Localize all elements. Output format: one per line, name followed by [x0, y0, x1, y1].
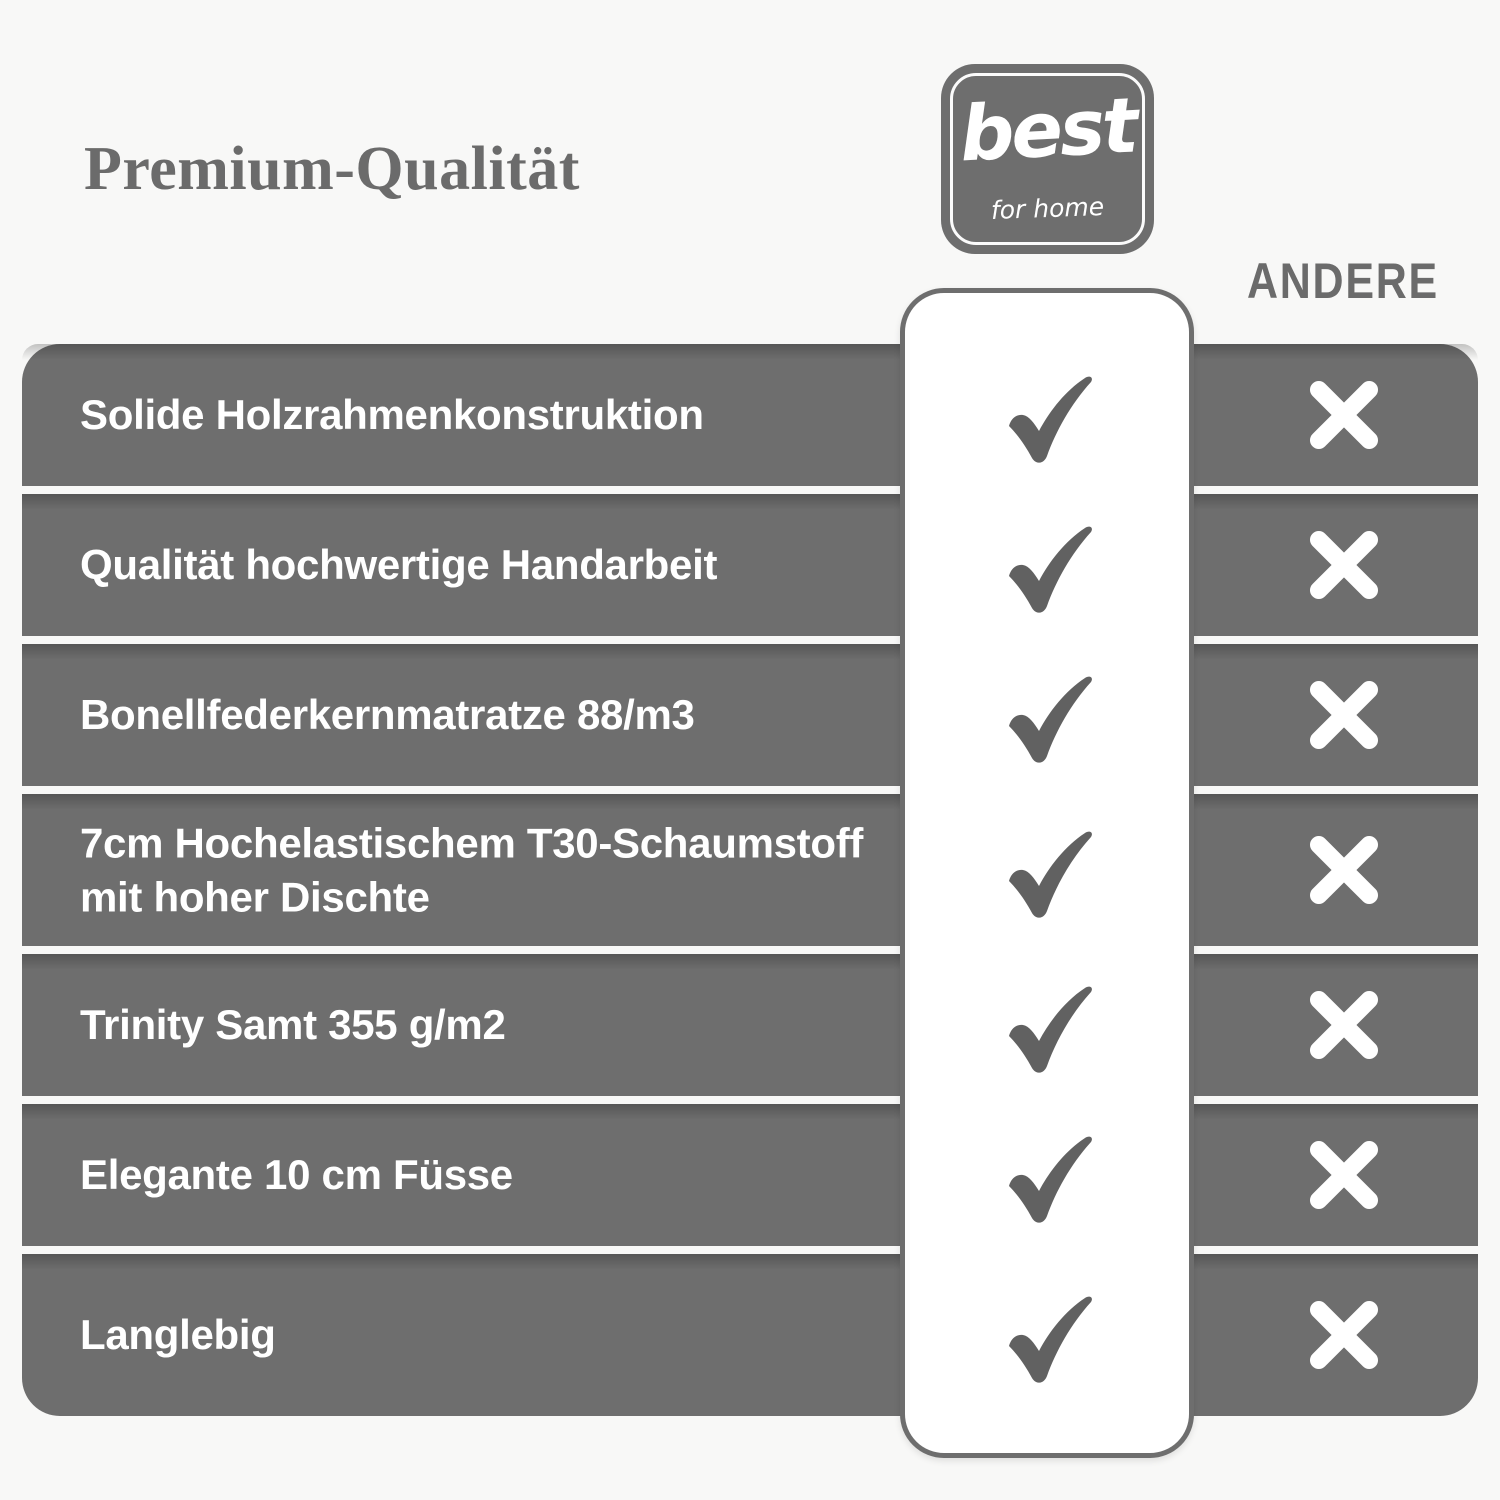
comparison-row: Solide Holzrahmenkonstruktion: [22, 344, 1478, 486]
cross-icon: [1302, 828, 1386, 912]
check-icon: [1001, 524, 1101, 616]
comparison-row-label: Qualität hochwertige Handarbeit: [80, 538, 880, 592]
comparison-row-label: Solide Holzrahmenkonstruktion: [80, 388, 880, 442]
cross-icon: [1302, 983, 1386, 1067]
comparison-row-label: 7cm Hochelastischem T30-Schaumstoff mit …: [80, 816, 880, 924]
check-icon: [1001, 829, 1101, 921]
comparison-row: Langlebig: [22, 1254, 1478, 1416]
check-icon: [1001, 1134, 1101, 1226]
comparison-rows: Solide HolzrahmenkonstruktionQualität ho…: [0, 0, 1500, 1500]
comparison-row: Elegante 10 cm Füsse: [22, 1104, 1478, 1246]
comparison-row: Bonellfederkernmatratze 88/m3: [22, 644, 1478, 786]
comparison-row-label: Langlebig: [80, 1308, 880, 1362]
comparison-row-label: Elegante 10 cm Füsse: [80, 1148, 880, 1202]
comparison-row-label: Trinity Samt 355 g/m2: [80, 998, 880, 1052]
comparison-row: Qualität hochwertige Handarbeit: [22, 494, 1478, 636]
comparison-row: 7cm Hochelastischem T30-Schaumstoff mit …: [22, 794, 1478, 946]
cross-icon: [1302, 673, 1386, 757]
cross-icon: [1302, 1133, 1386, 1217]
infographic-comparison-page: Premium-Qualität best for home ANDERE So…: [0, 0, 1500, 1500]
comparison-row: Trinity Samt 355 g/m2: [22, 954, 1478, 1096]
best-column-card: [900, 288, 1194, 1458]
cross-icon: [1302, 373, 1386, 457]
check-icon: [1001, 674, 1101, 766]
check-icon: [1001, 1294, 1101, 1386]
check-icon: [1001, 374, 1101, 466]
comparison-row-label: Bonellfederkernmatratze 88/m3: [80, 688, 880, 742]
cross-icon: [1302, 523, 1386, 607]
check-icon: [1001, 984, 1101, 1076]
cross-icon: [1302, 1293, 1386, 1377]
